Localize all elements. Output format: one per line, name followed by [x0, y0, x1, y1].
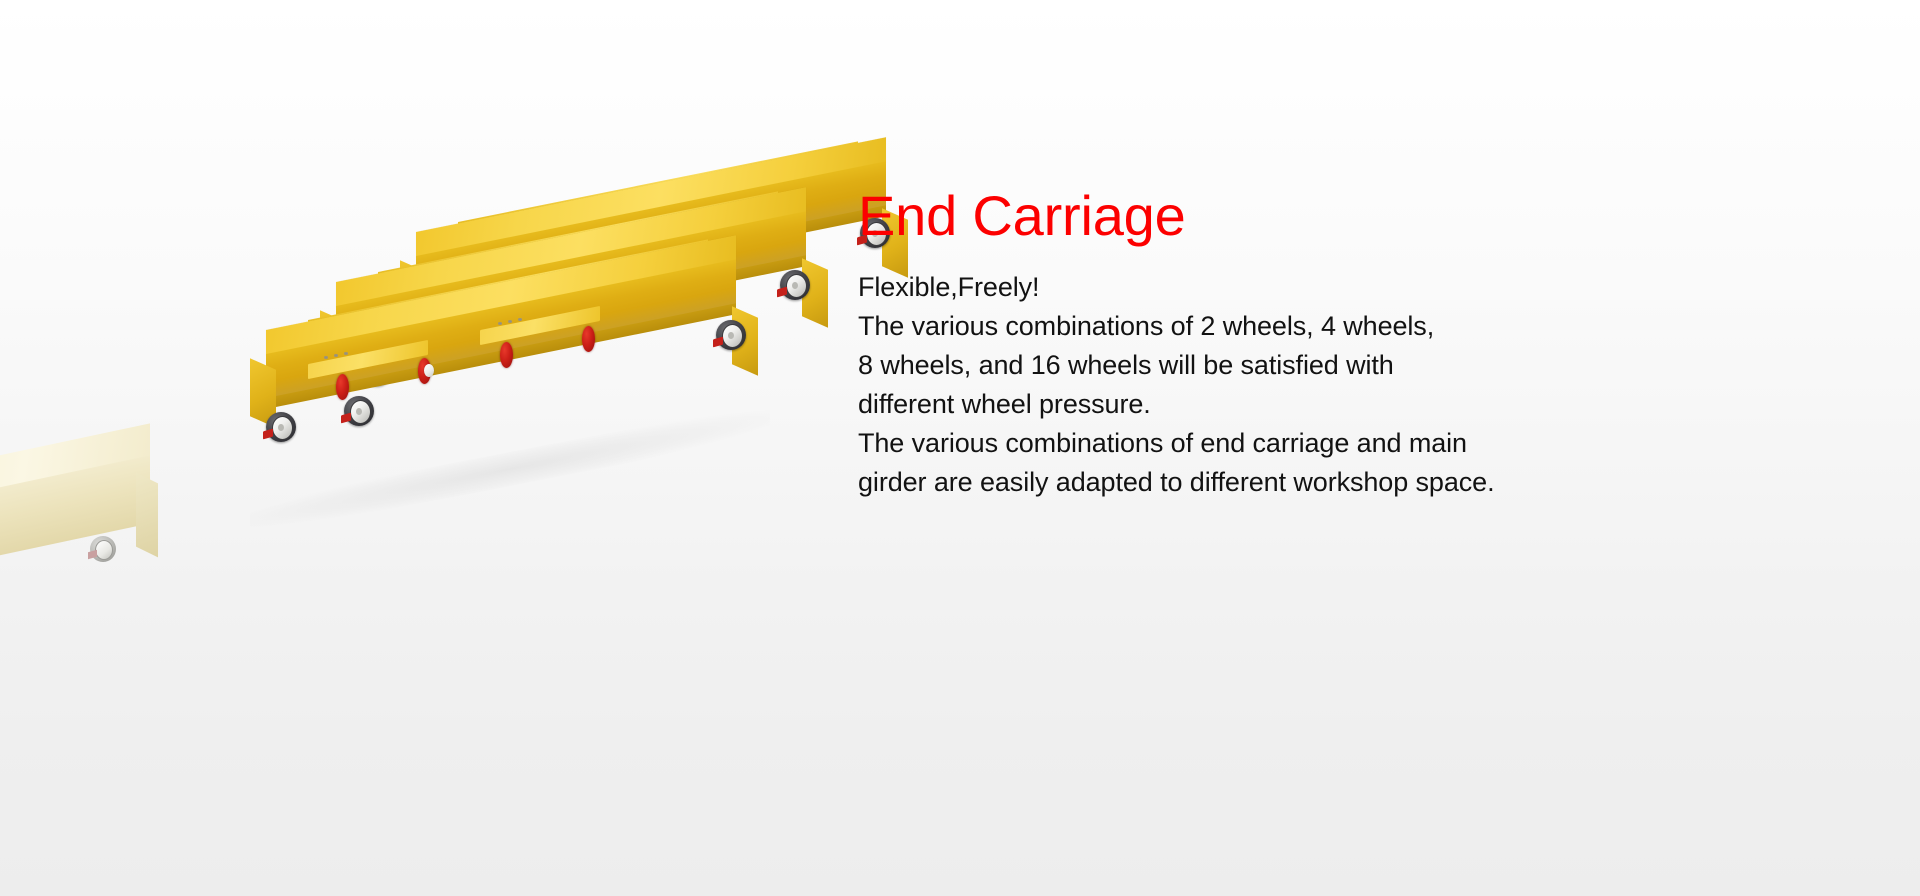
- description-paragraph: Flexible,Freely! The various combination…: [858, 268, 1518, 502]
- description-line: different wheel pressure.: [858, 385, 1518, 424]
- description-line: girder are easily adapted to different w…: [858, 463, 1518, 502]
- box-girder: [248, 326, 768, 476]
- pale-girder-end-plate: [136, 473, 158, 558]
- lightening-hole: [582, 326, 595, 352]
- travel-wheel: [266, 412, 296, 442]
- secondary-pale-girder: [0, 468, 200, 648]
- pin-boss: [424, 364, 434, 377]
- text-panel: End Carriage Flexible,Freely! The variou…: [858, 186, 1518, 502]
- description-line: Flexible,Freely!: [858, 268, 1518, 307]
- lightening-hole: [500, 342, 513, 368]
- travel-wheel: [344, 396, 374, 426]
- travel-wheel: [716, 320, 746, 350]
- travel-wheel: [780, 270, 810, 300]
- description-line: The various combinations of 2 wheels, 4 …: [858, 307, 1518, 346]
- description-line: The various combinations of end carriage…: [858, 424, 1518, 463]
- carriage-front: [248, 326, 768, 476]
- pale-travel-wheel: [90, 536, 116, 562]
- page-title: End Carriage: [858, 186, 1518, 246]
- description-line: 8 wheels, and 16 wheels will be satisfie…: [858, 346, 1518, 385]
- product-slide: End Carriage Flexible,Freely! The variou…: [0, 0, 1920, 896]
- end-carriage-illustration: [0, 0, 860, 896]
